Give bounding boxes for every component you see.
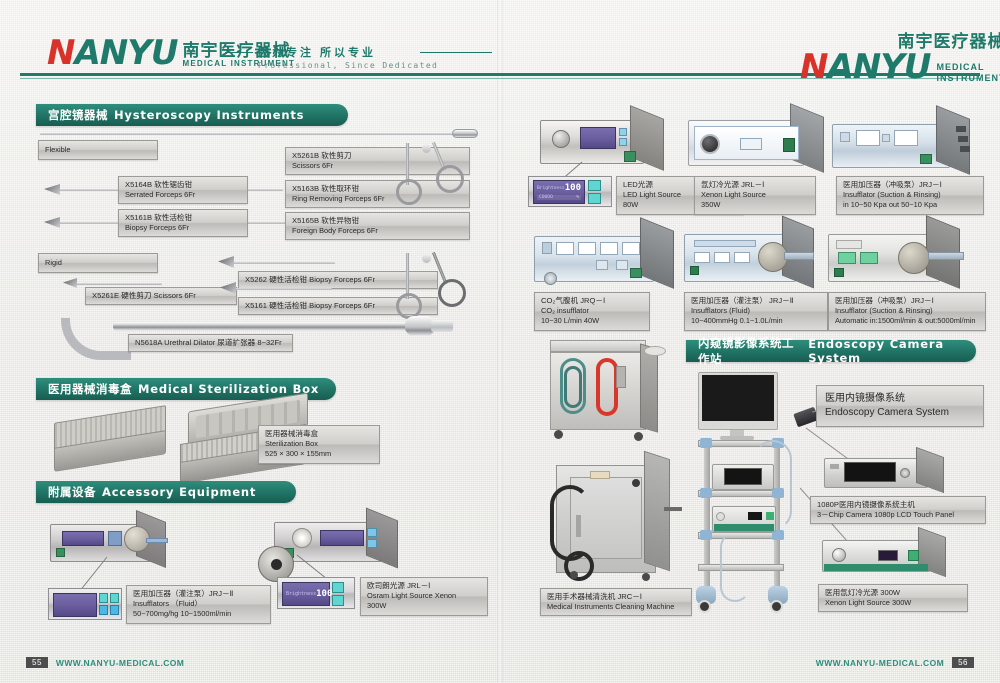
device-insufflator-suction-2 — [828, 222, 984, 290]
banner-hysteroscopy-cn: 宫腔镜器械 — [48, 107, 108, 123]
display-led-value: 100 — [565, 183, 581, 193]
callout-x5161b: X5161B 软性活检钳 Biopsy Forceps 6Fr — [118, 209, 248, 237]
footer-left: 55 WWW.NANYU-MEDICAL.COM — [26, 656, 184, 669]
callout-xenon300-en: Xenon Light Source 300W — [825, 598, 961, 608]
footer-right: WWW.NANYU-MEDICAL.COM 56 — [816, 656, 974, 669]
callout-cleaning-cn: 医用手术器械清洗机 JRC－Ⅰ — [547, 592, 685, 602]
callout-sterilization-dim: 525 × 300 × 155mm — [265, 449, 373, 459]
callout-insuff-fluid-en: Insufflators (Fluid) — [691, 306, 821, 316]
callout-insuff-left-en: Insufflators （Fluid） — [133, 599, 264, 609]
group-label-flexible-text: Flexible — [45, 145, 70, 155]
device-cleaning-machine — [556, 455, 696, 585]
callout-camera-host: 1080P医用内镜摄像系统主机 3－Chip Camera 1080p LCD … — [810, 496, 986, 524]
logo-left-wordmark: NANYU — [47, 36, 177, 70]
callout-co2-insufflator: CO₂气腹机 JRQ－Ⅰ CO₂ insufflator 10~30 L/min… — [534, 292, 650, 331]
callout-insuff-suction2-en: Insufflator (Suction & Rinsing) — [835, 306, 979, 316]
callout-camera-system-en: Endoscopy Camera System — [825, 406, 975, 420]
callout-insufflator-suction-1: 医用加压器（冲吸泵）JRJ－Ⅰ Insufflator (Suction & R… — [836, 176, 984, 215]
logo-right-sub2: INSTRUMENT — [936, 73, 1000, 84]
callout-insuff-fluid-cn: 医用加压器（灌注泵） JRJ－Ⅱ — [691, 296, 821, 306]
banner-hysteroscopy-en: Hysteroscopy Instruments — [114, 108, 304, 122]
callout-sterilization-cn: 医用器械消毒盒 — [265, 429, 373, 439]
slogan: 因为专注 所以专业 Professional, Since Dedicated — [258, 44, 488, 70]
callout-co2-en: CO₂ insufflator — [541, 306, 643, 316]
callout-insuff-suction1-en: Insufflator (Suction & Rinsing) — [843, 190, 977, 200]
callout-x5165b-en: Foreign Body Forceps 6Fr — [292, 226, 463, 236]
display-osram-title: Brightness — [286, 591, 316, 597]
callout-insufflator-suction-2: 医用加压器（冲吸泵）JRJ－Ⅰ Insufflator (Suction & R… — [828, 292, 986, 331]
instrument-jaw-x5261e — [63, 278, 77, 288]
sterilization-box-closed — [48, 408, 178, 470]
banner-camera-system: 内窥镜影像系统工作站 Endoscopy Camera System — [686, 340, 976, 362]
banner-camera-cn: 内窥镜影像系统工作站 — [698, 335, 802, 367]
instrument-shaft-x5262 — [230, 262, 335, 264]
callout-xenon-cn: 氙灯冷光源 JRL－Ⅰ — [701, 180, 809, 190]
callout-xenon-300w: 医用氙灯冷光源 300W Xenon Light Source 300W — [818, 584, 968, 612]
callout-x5161b-en: Biopsy Forceps 6Fr — [125, 223, 241, 233]
device-camera-host — [824, 452, 962, 492]
group-label-rigid: Rigid — [38, 253, 158, 273]
callout-insuff-suction1-cn: 医用加压器（冲吸泵）JRJ－Ⅰ — [843, 180, 977, 190]
callout-xenon300-cn: 医用氙灯冷光源 300W — [825, 588, 961, 598]
callout-co2-spec: 10~30 L/min 40W — [541, 316, 643, 326]
slogan-line-right — [420, 52, 492, 53]
callout-camera-system-cn: 医用内镜摄像系统 — [825, 392, 975, 406]
callout-camera-host-en: 3－Chip Camera 1080p LCD Touch Panel — [817, 510, 979, 520]
banner-accessory-en: Accessory Equipment — [102, 485, 256, 499]
endoscopy-cart — [690, 372, 810, 614]
footer-right-url[interactable]: WWW.NANYU-MEDICAL.COM — [816, 658, 944, 668]
display-panel-led: Brightness 100 COOOO % — [528, 176, 612, 207]
callout-sterilization-en: Sterilization Box — [265, 439, 373, 449]
callout-insufflator-fluid-right: 医用加压器（灌注泵） JRJ－Ⅱ Insufflators (Fluid) 10… — [684, 292, 828, 331]
callout-osram-cn: 欧司朗光源 JRL－Ⅰ — [367, 581, 481, 591]
display-panel-osram: Brightness 100 — [277, 577, 355, 609]
logo-right-wordmark: NANYU — [800, 50, 930, 84]
callout-insuff-fluid-spec: 10~400mmHg 0.1~1.0L/min — [691, 316, 821, 326]
group-label-rigid-text: Rigid — [45, 258, 62, 268]
display-osram-value: 100 — [316, 589, 332, 599]
callout-n5618a: N5618A Urethral Dilator 尿道扩张器 8~32Fr — [128, 334, 293, 352]
logo-right-sub1: MEDICAL — [936, 62, 1000, 73]
callout-cleaning-machine: 医用手术器械清洗机 JRC－Ⅰ Medical Instruments Clea… — [540, 588, 692, 616]
slogan-line-left — [225, 52, 253, 53]
device-xenon-300w — [822, 532, 962, 578]
callout-insuff-suction2-spec: Automatic in:1500ml/min & out:5000ml/min — [835, 316, 979, 326]
callout-insuff-left-cn: 医用加压器（灌注泵）JRJ－Ⅱ — [133, 589, 264, 599]
instrument-shaft-x5161 — [232, 288, 332, 290]
display-led-sub: COOOO — [539, 195, 553, 200]
instrument-jaw-biopsy-flex — [44, 217, 60, 228]
callout-xenon-en: Xenon Light Source — [701, 190, 809, 200]
logo-right: 南宇医疗器械 NANYU MEDICAL INSTRUMENT — [800, 33, 1000, 84]
device-co2-insufflator — [534, 224, 684, 290]
device-cleaning-trolley — [540, 340, 670, 450]
device-insufflator-fluid-right — [684, 222, 834, 290]
callout-n5618a-text: N5618A Urethral Dilator 尿道扩张器 8~32Fr — [135, 338, 286, 348]
callout-xenon-watt: 350W — [701, 200, 809, 210]
callout-camera-host-cn: 1080P医用内镜摄像系统主机 — [817, 500, 979, 510]
callout-x5161b-cn: X5161B 软性活检钳 — [125, 213, 241, 223]
callout-camera-system: 医用内镜摄像系统 Endoscopy Camera System — [816, 385, 984, 427]
catalog-page: NANYU 南宇医疗器械 MEDICAL INSTRUMENT 因为专注 所以专… — [0, 0, 1000, 683]
banner-hysteroscopy: 宫腔镜器械 Hysteroscopy Instruments — [36, 104, 348, 126]
callout-insuff-suction1-spec: in 10~50 Kpa out 50~10 Kpa — [843, 200, 977, 210]
slogan-en: Professional, Since Dedicated — [258, 61, 488, 70]
banner-accessory-cn: 附属设备 — [48, 484, 96, 500]
callout-xenon-light-source: 氙灯冷光源 JRL－Ⅰ Xenon Light Source 350W — [694, 176, 816, 215]
display-led-title: Brightness — [537, 186, 565, 191]
footer-left-url[interactable]: WWW.NANYU-MEDICAL.COM — [56, 658, 184, 668]
callout-cleaning-en: Medical Instruments Cleaning Machine — [547, 602, 685, 612]
display-led-unit: % — [576, 195, 579, 200]
callout-x5164b-en: Serrated Forceps 6Fr — [125, 190, 241, 200]
device-xenon-light-source — [688, 110, 828, 176]
footer-right-page: 56 — [952, 657, 974, 668]
group-label-flexible: Flexible — [38, 140, 158, 160]
instrument-jaw-x5262 — [218, 256, 234, 268]
banner-sterilization-cn: 医用器械消毒盒 — [48, 381, 132, 397]
page-gutter — [497, 0, 503, 683]
callout-insufflator-fluid-left: 医用加压器（灌注泵）JRJ－Ⅱ Insufflators （Fluid） 50~… — [126, 585, 271, 624]
banner-camera-en: Endoscopy Camera System — [808, 337, 976, 365]
callout-x5164b-cn: X5164B 软性锯齿钳 — [125, 180, 241, 190]
callout-osram-en: Osram Light Source Xenon — [367, 591, 481, 601]
callout-insuff-left-spec: 50~700mg/hg 10~1500ml/min — [133, 609, 264, 619]
callout-co2-cn: CO₂气腹机 JRQ－Ⅰ — [541, 296, 643, 306]
footer-left-page: 55 — [26, 657, 48, 668]
callout-osram-watt: 300W — [367, 601, 481, 611]
device-insufflator-suction-1 — [832, 112, 982, 176]
callout-sterilization-box: 医用器械消毒盒 Sterilization Box 525 × 300 × 15… — [258, 425, 380, 464]
callout-x5165b-cn: X5165B 软性异物钳 — [292, 216, 463, 226]
display-panel-insufflator — [48, 588, 122, 620]
instrument-jaw-serrated — [44, 184, 60, 195]
callout-x5164b: X5164B 软性锯齿钳 Serrated Forceps 6Fr — [118, 176, 248, 204]
callout-osram-light: 欧司朗光源 JRL－Ⅰ Osram Light Source Xenon 300… — [360, 577, 488, 616]
callout-x5165b: X5165B 软性异物钳 Foreign Body Forceps 6Fr — [285, 212, 470, 240]
instrument-shaft-x5261e — [74, 283, 162, 285]
callout-insuff-suction2-cn: 医用加压器（冲吸泵）JRJ－Ⅰ — [835, 296, 979, 306]
forceps-handle-upper — [388, 135, 498, 215]
banner-accessory: 附属设备 Accessory Equipment — [36, 481, 296, 503]
